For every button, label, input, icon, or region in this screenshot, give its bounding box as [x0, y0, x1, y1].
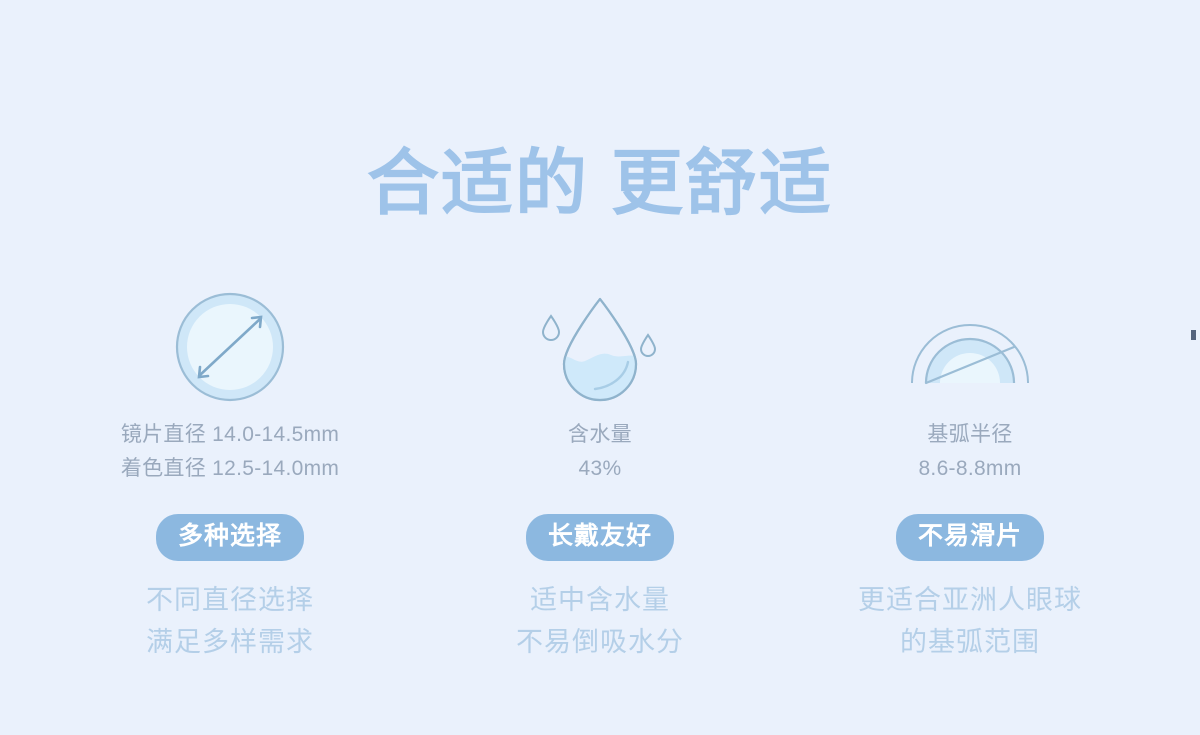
- spec-line: 着色直径 12.5-14.0mm: [121, 452, 339, 486]
- desc-line: 不易倒吸水分: [516, 621, 684, 663]
- badge-water-content: 长戴友好: [526, 514, 674, 561]
- spec-line: 8.6-8.8mm: [918, 452, 1021, 486]
- spec-text-water-content: 含水量 43%: [568, 418, 632, 486]
- product-feature-panel: 合适的 更舒适 镜片直径 14.0-14.5mm 着色直径 12.5-14.0m…: [0, 0, 1200, 735]
- spec-line: 基弧半径: [918, 418, 1021, 452]
- spec-line: 含水量: [568, 418, 632, 452]
- badge-diameter: 多种选择: [156, 514, 304, 561]
- desc-text-water-content: 适中含水量 不易倒吸水分: [516, 579, 684, 663]
- spec-line: 镜片直径 14.0-14.5mm: [121, 418, 339, 452]
- spec-text-diameter: 镜片直径 14.0-14.5mm 着色直径 12.5-14.0mm: [121, 418, 339, 486]
- edge-artifact-mark: [1191, 330, 1196, 340]
- desc-line: 的基弧范围: [858, 621, 1082, 663]
- spec-line: 43%: [568, 452, 632, 486]
- lens-diameter-icon: [171, 288, 289, 406]
- water-drop-icon: [541, 288, 659, 406]
- desc-line: 适中含水量: [516, 579, 684, 621]
- page-title: 合适的 更舒适: [0, 148, 1200, 220]
- feature-column-water-content: 含水量 43% 长戴友好 适中含水量 不易倒吸水分: [430, 288, 770, 663]
- desc-text-diameter: 不同直径选择 满足多样需求: [146, 579, 314, 663]
- desc-text-base-curve: 更适合亚洲人眼球 的基弧范围: [858, 579, 1082, 663]
- desc-line: 满足多样需求: [146, 621, 314, 663]
- feature-columns: 镜片直径 14.0-14.5mm 着色直径 12.5-14.0mm 多种选择 不…: [0, 288, 1200, 663]
- feature-column-diameter: 镜片直径 14.0-14.5mm 着色直径 12.5-14.0mm 多种选择 不…: [60, 288, 400, 663]
- spec-text-base-curve: 基弧半径 8.6-8.8mm: [918, 418, 1021, 486]
- desc-line: 更适合亚洲人眼球: [858, 579, 1082, 621]
- desc-line: 不同直径选择: [146, 579, 314, 621]
- base-curve-arc-icon: [904, 288, 1036, 406]
- badge-base-curve: 不易滑片: [896, 514, 1044, 561]
- feature-column-base-curve: 基弧半径 8.6-8.8mm 不易滑片 更适合亚洲人眼球 的基弧范围: [800, 288, 1140, 663]
